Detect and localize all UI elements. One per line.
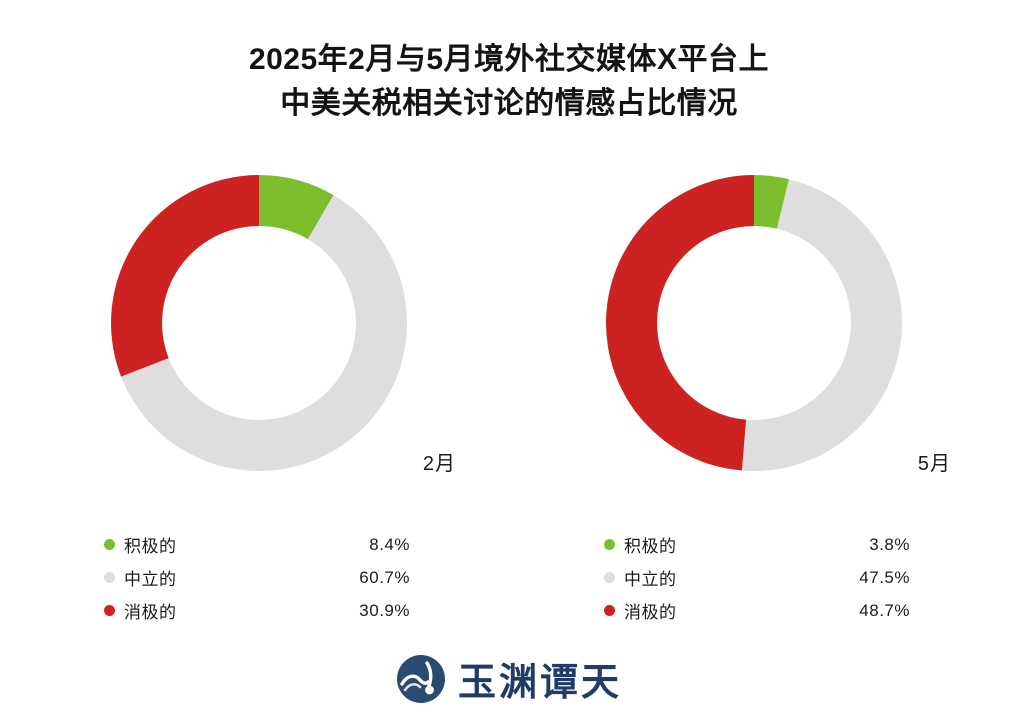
legend-value-negative: 30.9% [304,601,434,621]
legend-value-negative: 48.7% [804,601,934,621]
legend-value-neutral: 47.5% [804,568,934,588]
legend-dot-negative-icon [604,605,615,616]
donut-svg-may [603,172,905,474]
legend-dot-positive-icon [604,539,615,550]
legend-item-positive[interactable]: 积极的 8.4% [104,528,434,561]
legend-february: 积极的 8.4% 中立的 60.7% 消极的 30.9% [104,528,434,627]
period-label-february: 2月 [423,447,456,476]
legend-label-positive: 积极的 [624,532,804,557]
period-label-may: 5月 [918,447,951,476]
legend-item-negative[interactable]: 消极的 30.9% [104,594,434,627]
wave-circle-logo-icon [396,654,446,704]
donut-svg-february [108,172,410,474]
legend-may: 积极的 3.8% 中立的 47.5% 消极的 48.7% [604,528,934,627]
legend-item-negative[interactable]: 消极的 48.7% [604,594,934,627]
donut-slice [606,175,754,471]
chart-panel-february: 2月 [44,172,464,482]
legend-value-neutral: 60.7% [304,568,434,588]
legend-label-neutral: 中立的 [124,565,304,590]
legend-label-negative: 消极的 [624,598,804,623]
legend-dot-positive-icon [104,539,115,550]
legend-item-neutral[interactable]: 中立的 60.7% [104,561,434,594]
donut-chart-may [603,172,905,474]
legend-dot-negative-icon [104,605,115,616]
brand-name: 玉渊谭天 [458,651,622,706]
legend-value-positive: 3.8% [804,535,934,555]
donut-chart-february [108,172,410,474]
legend-dot-neutral-icon [104,572,115,583]
donut-slice [111,175,259,377]
chart-panel-may: 5月 [539,172,959,482]
brand-logo: 玉渊谭天 [0,651,1018,706]
legend-label-negative: 消极的 [124,598,304,623]
legend-item-positive[interactable]: 积极的 3.8% [604,528,934,561]
legend-item-neutral[interactable]: 中立的 47.5% [604,561,934,594]
legend-label-neutral: 中立的 [624,565,804,590]
legend-label-positive: 积极的 [124,532,304,557]
legend-value-positive: 8.4% [304,535,434,555]
legend-dot-neutral-icon [604,572,615,583]
